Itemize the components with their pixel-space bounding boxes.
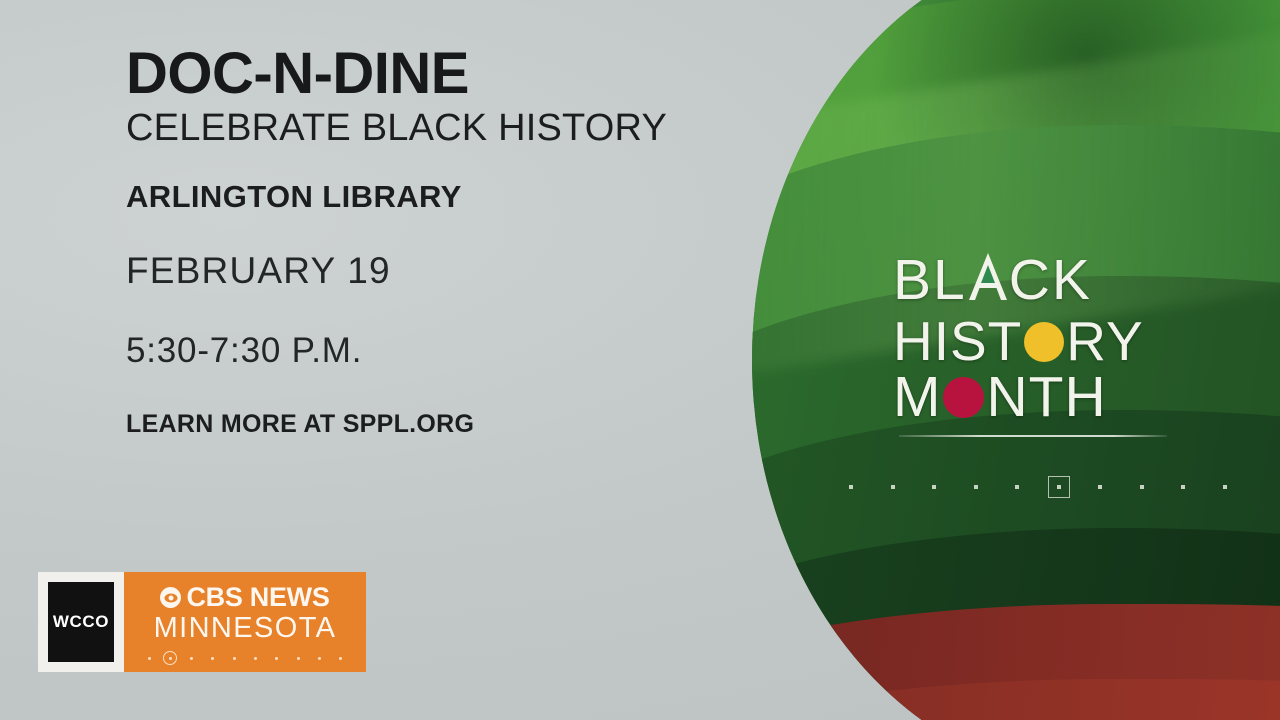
bhm-text-bl: BL [893, 254, 967, 306]
bug-pager-dot-icon [190, 657, 193, 660]
pager-item-active[interactable] [1048, 476, 1070, 498]
pager-item[interactable] [882, 476, 904, 498]
bug-pager-dot-icon [211, 657, 214, 660]
wcco-logo-box: WCCO [48, 582, 114, 662]
pager-dot-icon [1140, 485, 1144, 489]
pager-item[interactable] [1172, 476, 1194, 498]
event-learn-more: LEARN MORE AT SPPL.ORG [126, 412, 726, 437]
bug-pager-dot-icon [254, 657, 257, 660]
pager-dot-icon [974, 485, 978, 489]
bug-pager-item-active[interactable] [163, 651, 177, 665]
bug-pager-dot-icon [233, 657, 236, 660]
pager-item[interactable] [923, 476, 945, 498]
bhm-letter-a-with-triangle [967, 248, 1009, 312]
pager-dot-icon [891, 485, 895, 489]
pager-dot-icon [849, 485, 853, 489]
bhm-underline-rule [899, 435, 1167, 437]
broadcast-screen: BL CK HIST RY M NTH [0, 0, 1280, 720]
pager-dot-icon [1223, 485, 1227, 489]
pager-item[interactable] [840, 476, 862, 498]
pager-dot-icon [932, 485, 936, 489]
bhm-text-hist: HIST [893, 316, 1022, 367]
cbs-eye-icon [160, 587, 181, 608]
bug-pager-item[interactable] [313, 651, 327, 665]
cbs-news-minnesota-block: CBS NEWS MINNESOTA [124, 572, 366, 672]
event-venue: ARLINGTON LIBRARY [126, 181, 726, 212]
event-info-block: DOC-N-DINE CELEBRATE BLACK HISTORY ARLIN… [126, 45, 726, 437]
bhm-text-m: M [893, 371, 941, 423]
bhm-text-ck: CK [1009, 254, 1092, 306]
pager-item[interactable] [1089, 476, 1111, 498]
pager-item[interactable] [1006, 476, 1028, 498]
cbs-news-row: CBS NEWS [160, 584, 329, 611]
bug-pager-dot-icon [275, 657, 278, 660]
bug-pager-dot-icon [169, 657, 172, 660]
crimson-circle-letter-o-icon [943, 377, 984, 418]
bug-pager-item[interactable] [334, 651, 348, 665]
wcco-logo-frame: WCCO [38, 572, 124, 672]
bug-pagination-indicator[interactable] [142, 651, 348, 665]
bug-pager-dot-icon [318, 657, 321, 660]
bug-pager-dot-icon [339, 657, 342, 660]
pager-dot-icon [1098, 485, 1102, 489]
event-time: 5:30-7:30 P.M. [126, 333, 726, 368]
black-history-month-wordmark: BL CK HIST RY M NTH [893, 248, 1183, 437]
graphic-pagination-indicator[interactable] [840, 476, 1236, 498]
letter-a-triangle-icon [967, 248, 1009, 305]
market-label: MINNESOTA [154, 614, 337, 643]
pager-item[interactable] [1131, 476, 1153, 498]
bug-pager-item[interactable] [227, 651, 241, 665]
bug-pager-dot-icon [148, 657, 151, 660]
bug-pager-item[interactable] [206, 651, 220, 665]
gold-circle-letter-o-icon [1024, 322, 1064, 362]
event-subtitle: CELEBRATE BLACK HISTORY [126, 109, 726, 147]
bug-pager-dot-icon [297, 657, 300, 660]
bhm-line-history: HIST RY [893, 316, 1183, 367]
pager-item[interactable] [965, 476, 987, 498]
station-branding-bug: WCCO CBS NEWS MINNESOTA [38, 572, 366, 672]
bug-pager-item[interactable] [249, 651, 263, 665]
wcco-callsign-label: WCCO [53, 612, 109, 632]
bug-pager-item[interactable] [185, 651, 199, 665]
event-date: FEBRUARY 19 [126, 252, 726, 289]
bhm-text-ry: RY [1066, 316, 1143, 367]
bug-pager-item[interactable] [270, 651, 284, 665]
cbs-news-label: CBS NEWS [186, 584, 329, 611]
pager-dot-icon [1181, 485, 1185, 489]
event-title: DOC-N-DINE [126, 45, 726, 103]
pager-dot-icon [1057, 485, 1061, 489]
bhm-text-nth: NTH [986, 371, 1106, 423]
pager-item[interactable] [1214, 476, 1236, 498]
bhm-line-black: BL CK [893, 248, 1183, 312]
bhm-line-month: M NTH [893, 371, 1183, 423]
pager-dot-icon [1015, 485, 1019, 489]
bug-pager-item[interactable] [291, 651, 305, 665]
bug-pager-item[interactable] [142, 651, 156, 665]
